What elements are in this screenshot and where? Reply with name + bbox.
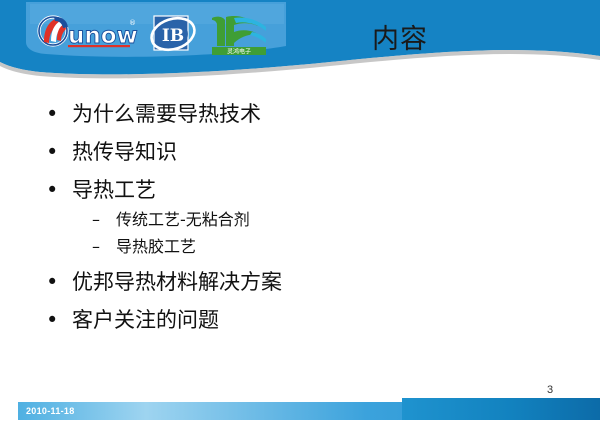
- bullet-dot-icon: •: [46, 100, 58, 129]
- slide-header: unow ® IB: [0, 0, 600, 100]
- list-item: • 为什么需要导热技术: [42, 100, 600, 129]
- presentation-slide: unow ® IB: [0, 0, 600, 424]
- bullet-dash-icon: –: [92, 207, 100, 232]
- footer-date: 2010-11-18: [26, 406, 75, 416]
- green-leaf-logo-graphic: 灵鸿电子: [208, 12, 270, 56]
- ib-logo-graphic: IB: [148, 12, 198, 56]
- page-number: 3: [540, 384, 560, 396]
- list-item-label: 热传导知识: [72, 140, 177, 164]
- list-item-label: 为什么需要导热技术: [72, 102, 261, 126]
- list-item-label: 导热工艺: [72, 178, 156, 202]
- slide-body: • 为什么需要导热技术 • 热传导知识 • 导热工艺 – 传统工艺-无粘合剂 –: [0, 100, 600, 370]
- unow-underline: [68, 45, 130, 47]
- bullet-dot-icon: •: [46, 138, 58, 167]
- sub-list-item: – 传统工艺-无粘合剂: [90, 207, 600, 232]
- bullet-dot-icon: •: [46, 306, 58, 335]
- footer-background-shape: [0, 370, 600, 424]
- list-item-label: 优邦导热材料解决方案: [72, 270, 282, 294]
- ib-monogram-logo: IB: [148, 12, 198, 56]
- footer-bar-right: [402, 398, 600, 420]
- green-leaf-logo: 灵鸿电子: [208, 12, 270, 56]
- slide-footer: 2010-11-18 3: [0, 370, 600, 424]
- green-logo-caption: 灵鸿电子: [227, 48, 251, 56]
- list-item: • 热传导知识: [42, 138, 600, 167]
- bullet-dash-icon: –: [92, 234, 100, 259]
- agenda-list: • 为什么需要导热技术 • 热传导知识 • 导热工艺 – 传统工艺-无粘合剂 –: [0, 100, 600, 335]
- ib-wordmark: IB: [162, 26, 184, 46]
- unow-logo-graphic: unow ®: [34, 14, 138, 54]
- bullet-dot-icon: •: [46, 176, 58, 205]
- logo-row: unow ® IB: [34, 12, 270, 56]
- sub-list-item: – 导热胶工艺: [90, 234, 600, 259]
- sub-list: – 传统工艺-无粘合剂 – 导热胶工艺: [72, 207, 600, 259]
- list-item-label: 客户关注的问题: [72, 308, 219, 332]
- list-item: • 客户关注的问题: [42, 306, 600, 335]
- list-item: • 优邦导热材料解决方案: [42, 268, 600, 297]
- sub-list-item-label: 传统工艺-无粘合剂: [116, 210, 250, 229]
- bullet-dot-icon: •: [46, 268, 58, 297]
- registered-mark-icon: ®: [129, 19, 136, 27]
- list-item: • 导热工艺 – 传统工艺-无粘合剂 – 导热胶工艺: [42, 176, 600, 259]
- sub-list-item-label: 导热胶工艺: [116, 237, 196, 256]
- page-title: 内容: [300, 24, 500, 56]
- unow-logo: unow ®: [34, 14, 138, 54]
